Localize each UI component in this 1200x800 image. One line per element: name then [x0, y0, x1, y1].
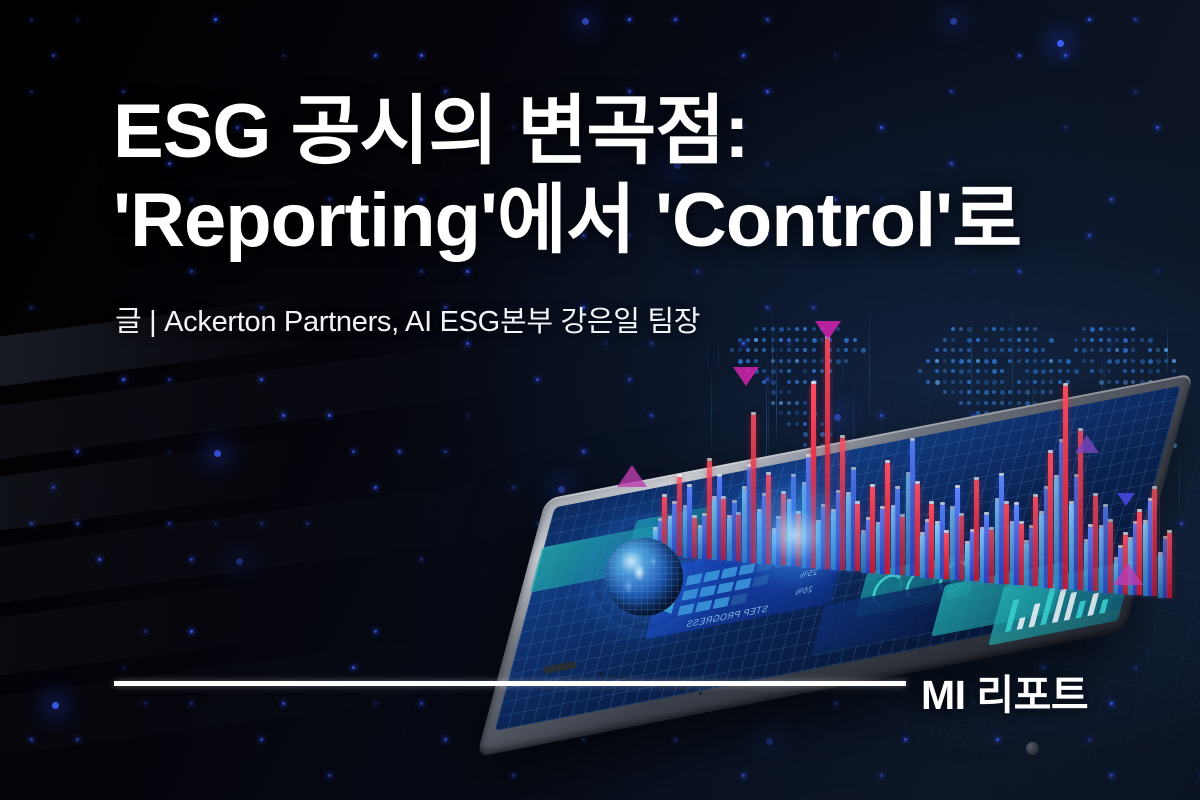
divider-rule	[114, 681, 906, 686]
page-title: ESG 공시의 변곡점: 'Reporting'에서 'Control'로	[113, 88, 1021, 266]
byline: 글 | Ackerton Partners, AI ESG본부 강은일 팀장	[115, 298, 700, 340]
cover-canvas: 31% 25% 26% STEP PROGRESS	[0, 0, 1200, 800]
brand-label: MI 리포트	[921, 661, 1088, 721]
